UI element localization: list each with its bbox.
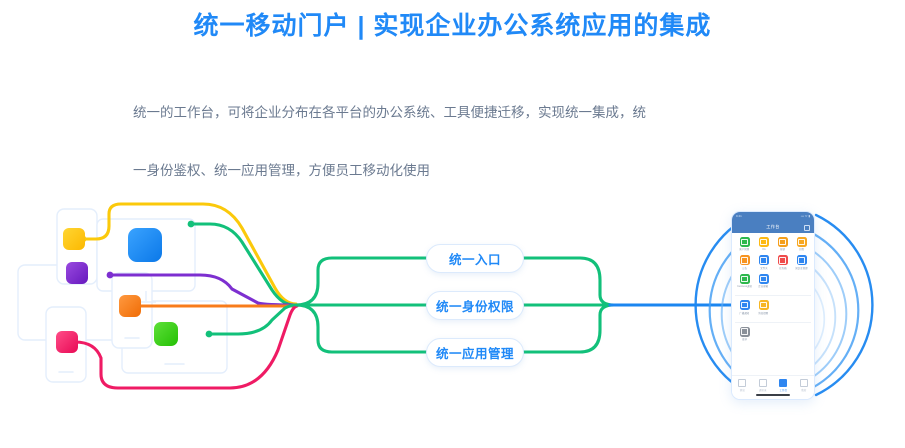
nav-label: 消息 (740, 388, 745, 392)
app-label: OA (762, 248, 766, 251)
scan-icon[interactable] (804, 225, 810, 231)
nav-item[interactable]: 消息 (732, 379, 753, 392)
app-tile[interactable]: business通讯 (735, 274, 754, 288)
status-indicators: ••• ᯤ ▮ (801, 212, 810, 221)
app-icon (740, 255, 750, 265)
app-icon (778, 237, 788, 247)
app-icon (759, 255, 769, 265)
pill-label: 统一身份权限 (436, 296, 514, 315)
app-section-3: 更多 (735, 322, 811, 345)
app-section-1: 客户管理OA报销日程公告文件夹任务箱知识库管理business通讯企业邮箱 (735, 237, 811, 292)
phone-status-bar: 9:41 ••• ᯤ ▮ (732, 212, 814, 221)
nav-label: 通讯录 (759, 388, 767, 392)
pill-unified-app-management[interactable]: 统一应用管理 (426, 338, 524, 367)
status-time: 9:41 (736, 212, 742, 221)
nav-icon (759, 379, 767, 387)
page-root: 统一移动门户 | 实现企业办公系统应用的集成 统一的工作台，可将企业分布在各平台… (0, 0, 905, 448)
app-tile[interactable]: 企业邮箱 (754, 274, 773, 288)
app-tile[interactable]: 更多 (735, 327, 754, 341)
pill-label: 统一应用管理 (436, 343, 514, 362)
app-tile[interactable]: 公告 (735, 255, 754, 269)
page-title: 统一移动门户 | 实现企业办公系统应用的集成 (0, 6, 905, 42)
app-tile[interactable]: 任务箱 (773, 255, 792, 269)
app-label: 日程 (799, 248, 804, 251)
nav-icon (800, 379, 808, 387)
app-tile[interactable]: 广播通知 (735, 300, 754, 314)
home-indicator (756, 394, 790, 396)
app-icon (797, 255, 807, 265)
nav-icon (779, 379, 787, 387)
phone-app-grid: 客户管理OA报销日程公告文件夹任务箱知识库管理business通讯企业邮箱 广播… (732, 233, 814, 345)
nav-item[interactable]: 我的 (794, 379, 815, 392)
app-label: 消息提醒 (759, 312, 769, 315)
app-label: 企业邮箱 (759, 285, 769, 288)
app-label: 客户管理 (740, 248, 750, 251)
device-outlines (18, 209, 227, 382)
app-icon (759, 274, 769, 284)
page-description: 统一的工作台，可将企业分布在各平台的办公系统、工具便捷迁移，实现统一集成，统 一… (133, 84, 773, 200)
hub-branches (296, 258, 426, 352)
phone-app-header: 工作台 (732, 221, 814, 233)
app-icon (759, 237, 769, 247)
phone-header-title: 工作台 (766, 224, 779, 230)
app-tile[interactable]: 日程 (792, 237, 811, 251)
nav-item[interactable]: 工作台 (773, 379, 794, 392)
app-icon (740, 237, 750, 247)
app-tile[interactable]: OA (754, 237, 773, 251)
pill-output-lines (524, 258, 614, 352)
nav-icon (738, 379, 746, 387)
app-section-2: 广播通知消息提醒 (735, 295, 811, 318)
app-label: 报销 (780, 248, 785, 251)
app-label: 任务箱 (779, 267, 786, 270)
app-tile[interactable]: 报销 (773, 237, 792, 251)
nav-label: 工作台 (779, 388, 787, 392)
pill-label: 统一入口 (449, 249, 501, 268)
nav-item[interactable]: 通讯录 (753, 379, 774, 392)
app-icon (740, 327, 750, 337)
app-label: 公告 (742, 267, 747, 270)
app-icon (740, 300, 750, 310)
pill-unified-identity[interactable]: 统一身份权限 (426, 291, 524, 320)
app-label: 知识库管理 (795, 267, 807, 270)
app-tile[interactable]: 知识库管理 (792, 255, 811, 269)
pill-unified-entry[interactable]: 统一入口 (426, 244, 524, 273)
app-label: 文件夹 (760, 267, 767, 270)
app-label: 更多 (742, 338, 747, 341)
app-label: business通讯 (737, 285, 752, 288)
nav-label: 我的 (801, 388, 806, 392)
app-icon (740, 274, 750, 284)
app-tile[interactable]: 消息提醒 (754, 300, 773, 314)
app-icon (797, 237, 807, 247)
phone-mockup: 9:41 ••• ᯤ ▮ 工作台 客户管理OA报销日程公告文件夹任务箱知识库管理… (731, 211, 815, 400)
app-tile[interactable]: 文件夹 (754, 255, 773, 269)
app-icon (778, 255, 788, 265)
app-tile[interactable]: 客户管理 (735, 237, 754, 251)
description-line-1: 统一的工作台，可将企业分布在各平台的办公系统、工具便捷迁移，实现统一集成，统 (133, 84, 773, 142)
app-label: 广播通知 (740, 312, 750, 315)
app-icon (759, 300, 769, 310)
